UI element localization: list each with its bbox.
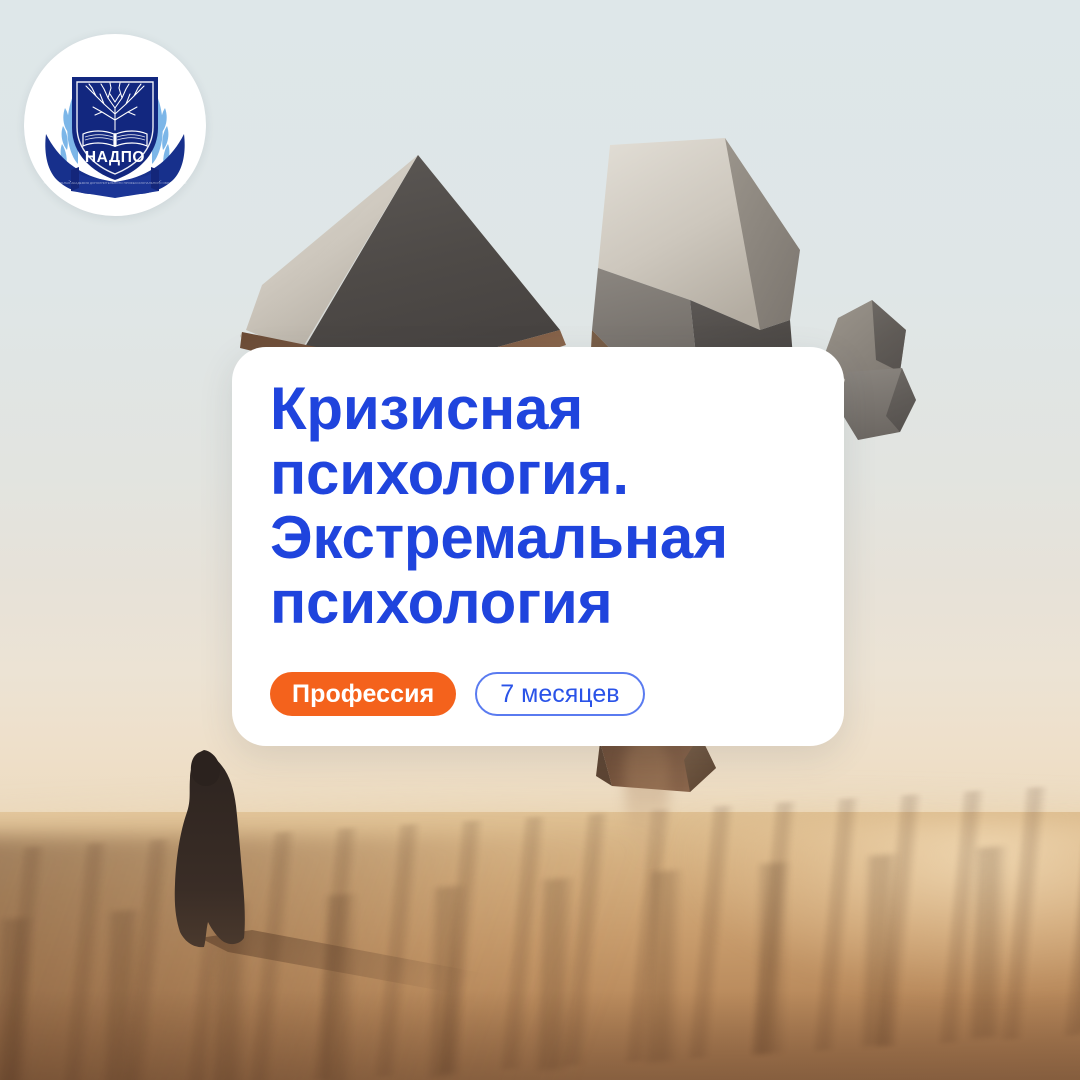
- logo-badge[interactable]: НАДПО НАЦИОНАЛЬНАЯ АКАДЕМИЯ ДОПОЛНИТЕЛЬН…: [24, 34, 206, 216]
- course-meta-chips: Профессия 7 месяцев: [270, 672, 645, 716]
- logo-ribbon-text: НАЦИОНАЛЬНАЯ АКАДЕМИЯ ДОПОЛНИТЕЛЬНОГО ПР…: [44, 181, 187, 185]
- badge-duration[interactable]: 7 месяцев: [475, 672, 644, 716]
- page-title: Кризисная психология. Экстремальная псих…: [270, 377, 814, 635]
- nadpo-logo-svg: НАДПО НАЦИОНАЛЬНАЯ АКАДЕМИЯ ДОПОЛНИТЕЛЬН…: [24, 34, 206, 216]
- badge-profession[interactable]: Профессия: [270, 672, 456, 716]
- course-card-content: Кризисная психология. Экстремальная псих…: [270, 377, 814, 635]
- promo-poster: НАДПО НАЦИОНАЛЬНАЯ АКАДЕМИЯ ДОПОЛНИТЕЛЬН…: [0, 0, 1080, 1080]
- logo-acronym: НАДПО: [85, 149, 145, 166]
